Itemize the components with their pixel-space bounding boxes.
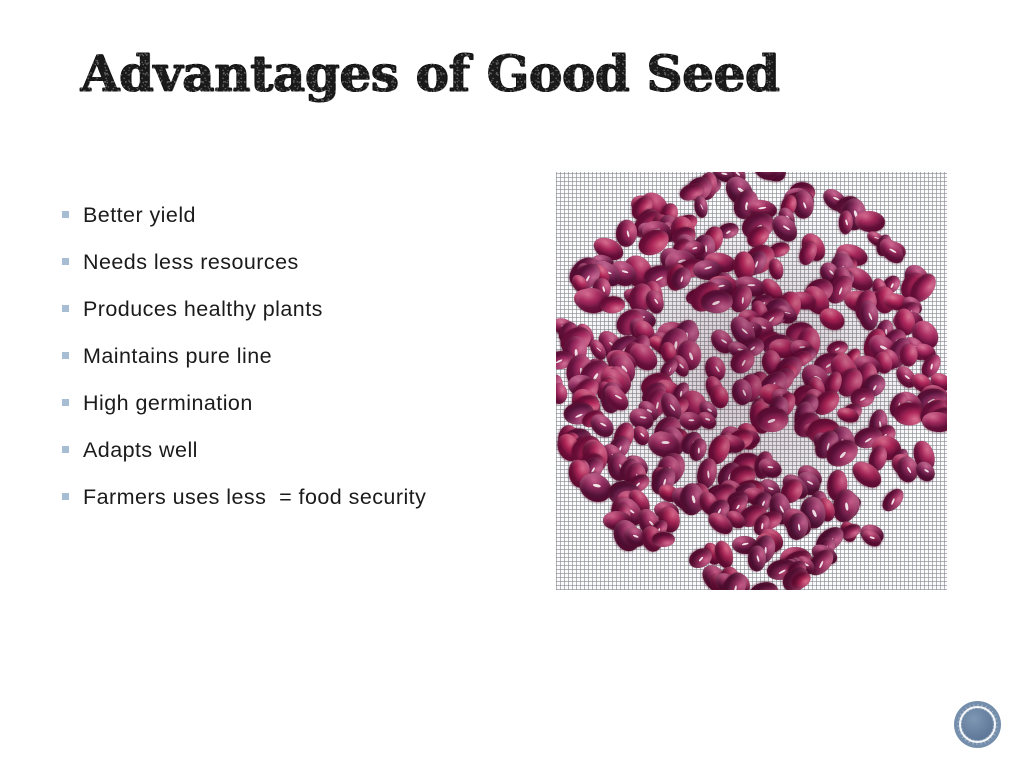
slide-title: Advantages of Good Seed — [60, 44, 800, 106]
list-item: Produces healthy plants — [62, 285, 532, 332]
logo-core-disc — [962, 709, 993, 740]
bean-heap — [556, 172, 947, 590]
slide: Advantages of Good Seed Better yield Nee… — [0, 0, 1024, 768]
bean-seed — [921, 410, 947, 433]
list-item: Farmers uses less = food security — [62, 473, 532, 520]
seed-photo — [556, 172, 947, 590]
square-bullet-icon — [62, 211, 69, 218]
bean-seed — [878, 485, 907, 515]
bean-seed — [747, 545, 766, 571]
bean-seed — [854, 209, 886, 232]
bullet-label: Needs less resources — [83, 250, 532, 274]
square-bullet-icon — [62, 446, 69, 453]
bean-seed — [768, 257, 786, 280]
bean-seed — [556, 382, 569, 405]
square-bullet-icon — [62, 352, 69, 359]
bean-seed — [748, 579, 781, 590]
bullet-list: Better yield Needs less resources Produc… — [62, 191, 532, 520]
bean-seed — [899, 344, 918, 368]
bullet-label: Maintains pure line — [83, 344, 532, 368]
list-item: Needs less resources — [62, 238, 532, 285]
bullet-label: Adapts well — [83, 438, 532, 462]
bean-seed — [599, 296, 625, 315]
square-bullet-icon — [62, 305, 69, 312]
square-bullet-icon — [62, 258, 69, 265]
template-emblem-logo — [954, 701, 1001, 748]
list-item: Adapts well — [62, 426, 532, 473]
list-item: Maintains pure line — [62, 332, 532, 379]
bean-seed — [756, 406, 789, 432]
square-bullet-icon — [62, 493, 69, 500]
bullet-label: Produces healthy plants — [83, 297, 532, 321]
bean-seed — [651, 532, 674, 548]
list-item: High germination — [62, 379, 532, 426]
bullet-label: Farmers uses less = food security — [83, 485, 532, 509]
bullet-label: High germination — [83, 391, 532, 415]
list-item: Better yield — [62, 191, 532, 238]
bullet-label: Better yield — [83, 203, 532, 227]
square-bullet-icon — [62, 399, 69, 406]
